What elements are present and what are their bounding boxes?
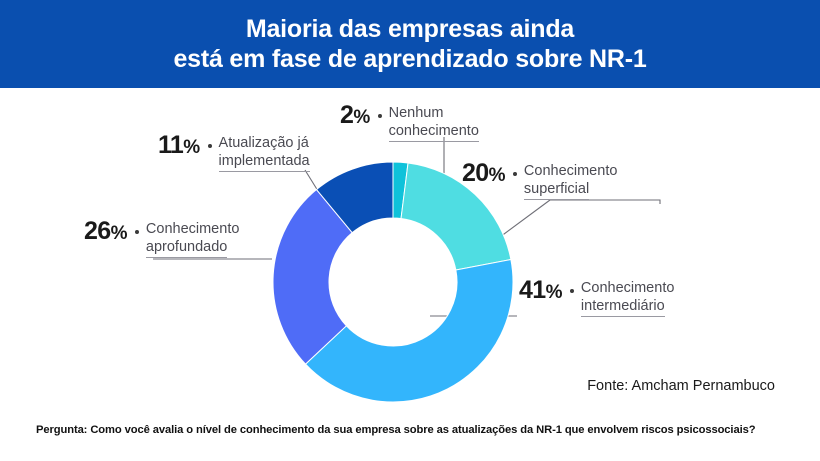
callout-label-nenhum-line1: Nenhum	[389, 105, 444, 121]
callout-label-nenhum: Nenhum conhecimento	[389, 104, 479, 142]
callout-label-superficial-line2: superficial	[524, 180, 589, 200]
bullet-dot-icon	[378, 114, 382, 118]
callout-percent-superficial: 20%	[462, 162, 505, 187]
source-attribution: Fonte: Amcham Pernambuco	[587, 378, 775, 394]
leader-line-atualizacao	[305, 170, 318, 191]
callout-label-superficial: Conhecimento superficial	[524, 162, 618, 200]
callout-percent-nenhum: 2%	[340, 104, 370, 129]
infographic-page: Maioria das empresas ainda está em fase …	[0, 0, 820, 461]
survey-question-note: Pergunta: Como você avalia o nível de co…	[36, 424, 755, 436]
callout-label-nenhum-line2: conhecimento	[389, 122, 479, 142]
donut-chart-area: 2% Nenhum conhecimento 20% Conhecimento …	[0, 88, 820, 408]
callout-label-intermediario-line1: Conhecimento	[581, 280, 675, 296]
callout-percent-aprofundado: 26%	[84, 220, 127, 245]
callout-label-aprofundado-line2: aprofundado	[146, 238, 227, 258]
page-title-line-2: está em fase de aprendizado sobre NR-1	[173, 44, 646, 74]
callout-label-superficial-line1: Conhecimento	[524, 163, 618, 179]
callout-label-atualizacao-line2: implementada	[219, 152, 310, 172]
bullet-dot-icon	[513, 172, 517, 176]
page-title-line-1: Maioria das empresas ainda	[246, 14, 574, 44]
callout-nenhum-conhecimento: 2% Nenhum conhecimento	[340, 104, 479, 142]
leader-line-superficial-a	[606, 200, 660, 204]
leader-line-superficial-c	[496, 200, 550, 240]
callout-atualizacao-implementada: 11% Atualização já implementada	[158, 134, 310, 172]
callout-conhecimento-superficial: 20% Conhecimento superficial	[462, 162, 617, 200]
bullet-dot-icon	[135, 230, 139, 234]
bullet-dot-icon	[208, 144, 212, 148]
bullet-dot-icon	[570, 289, 574, 293]
callout-percent-intermediario: 41%	[519, 279, 562, 304]
callout-conhecimento-aprofundado: 26% Conhecimento aprofundado	[84, 220, 239, 258]
callout-label-aprofundado: Conhecimento aprofundado	[146, 220, 240, 258]
callout-label-intermediario: Conhecimento intermediário	[581, 279, 675, 317]
header-banner: Maioria das empresas ainda está em fase …	[0, 0, 820, 88]
callout-label-atualizacao: Atualização já implementada	[219, 134, 310, 172]
callout-label-intermediario-line2: intermediário	[581, 297, 665, 317]
callout-percent-atualizacao: 11%	[158, 134, 200, 159]
callout-label-aprofundado-line1: Conhecimento	[146, 221, 240, 237]
callout-conhecimento-intermediario: 41% Conhecimento intermediário	[519, 279, 674, 317]
callout-label-atualizacao-line1: Atualização já	[219, 135, 309, 151]
